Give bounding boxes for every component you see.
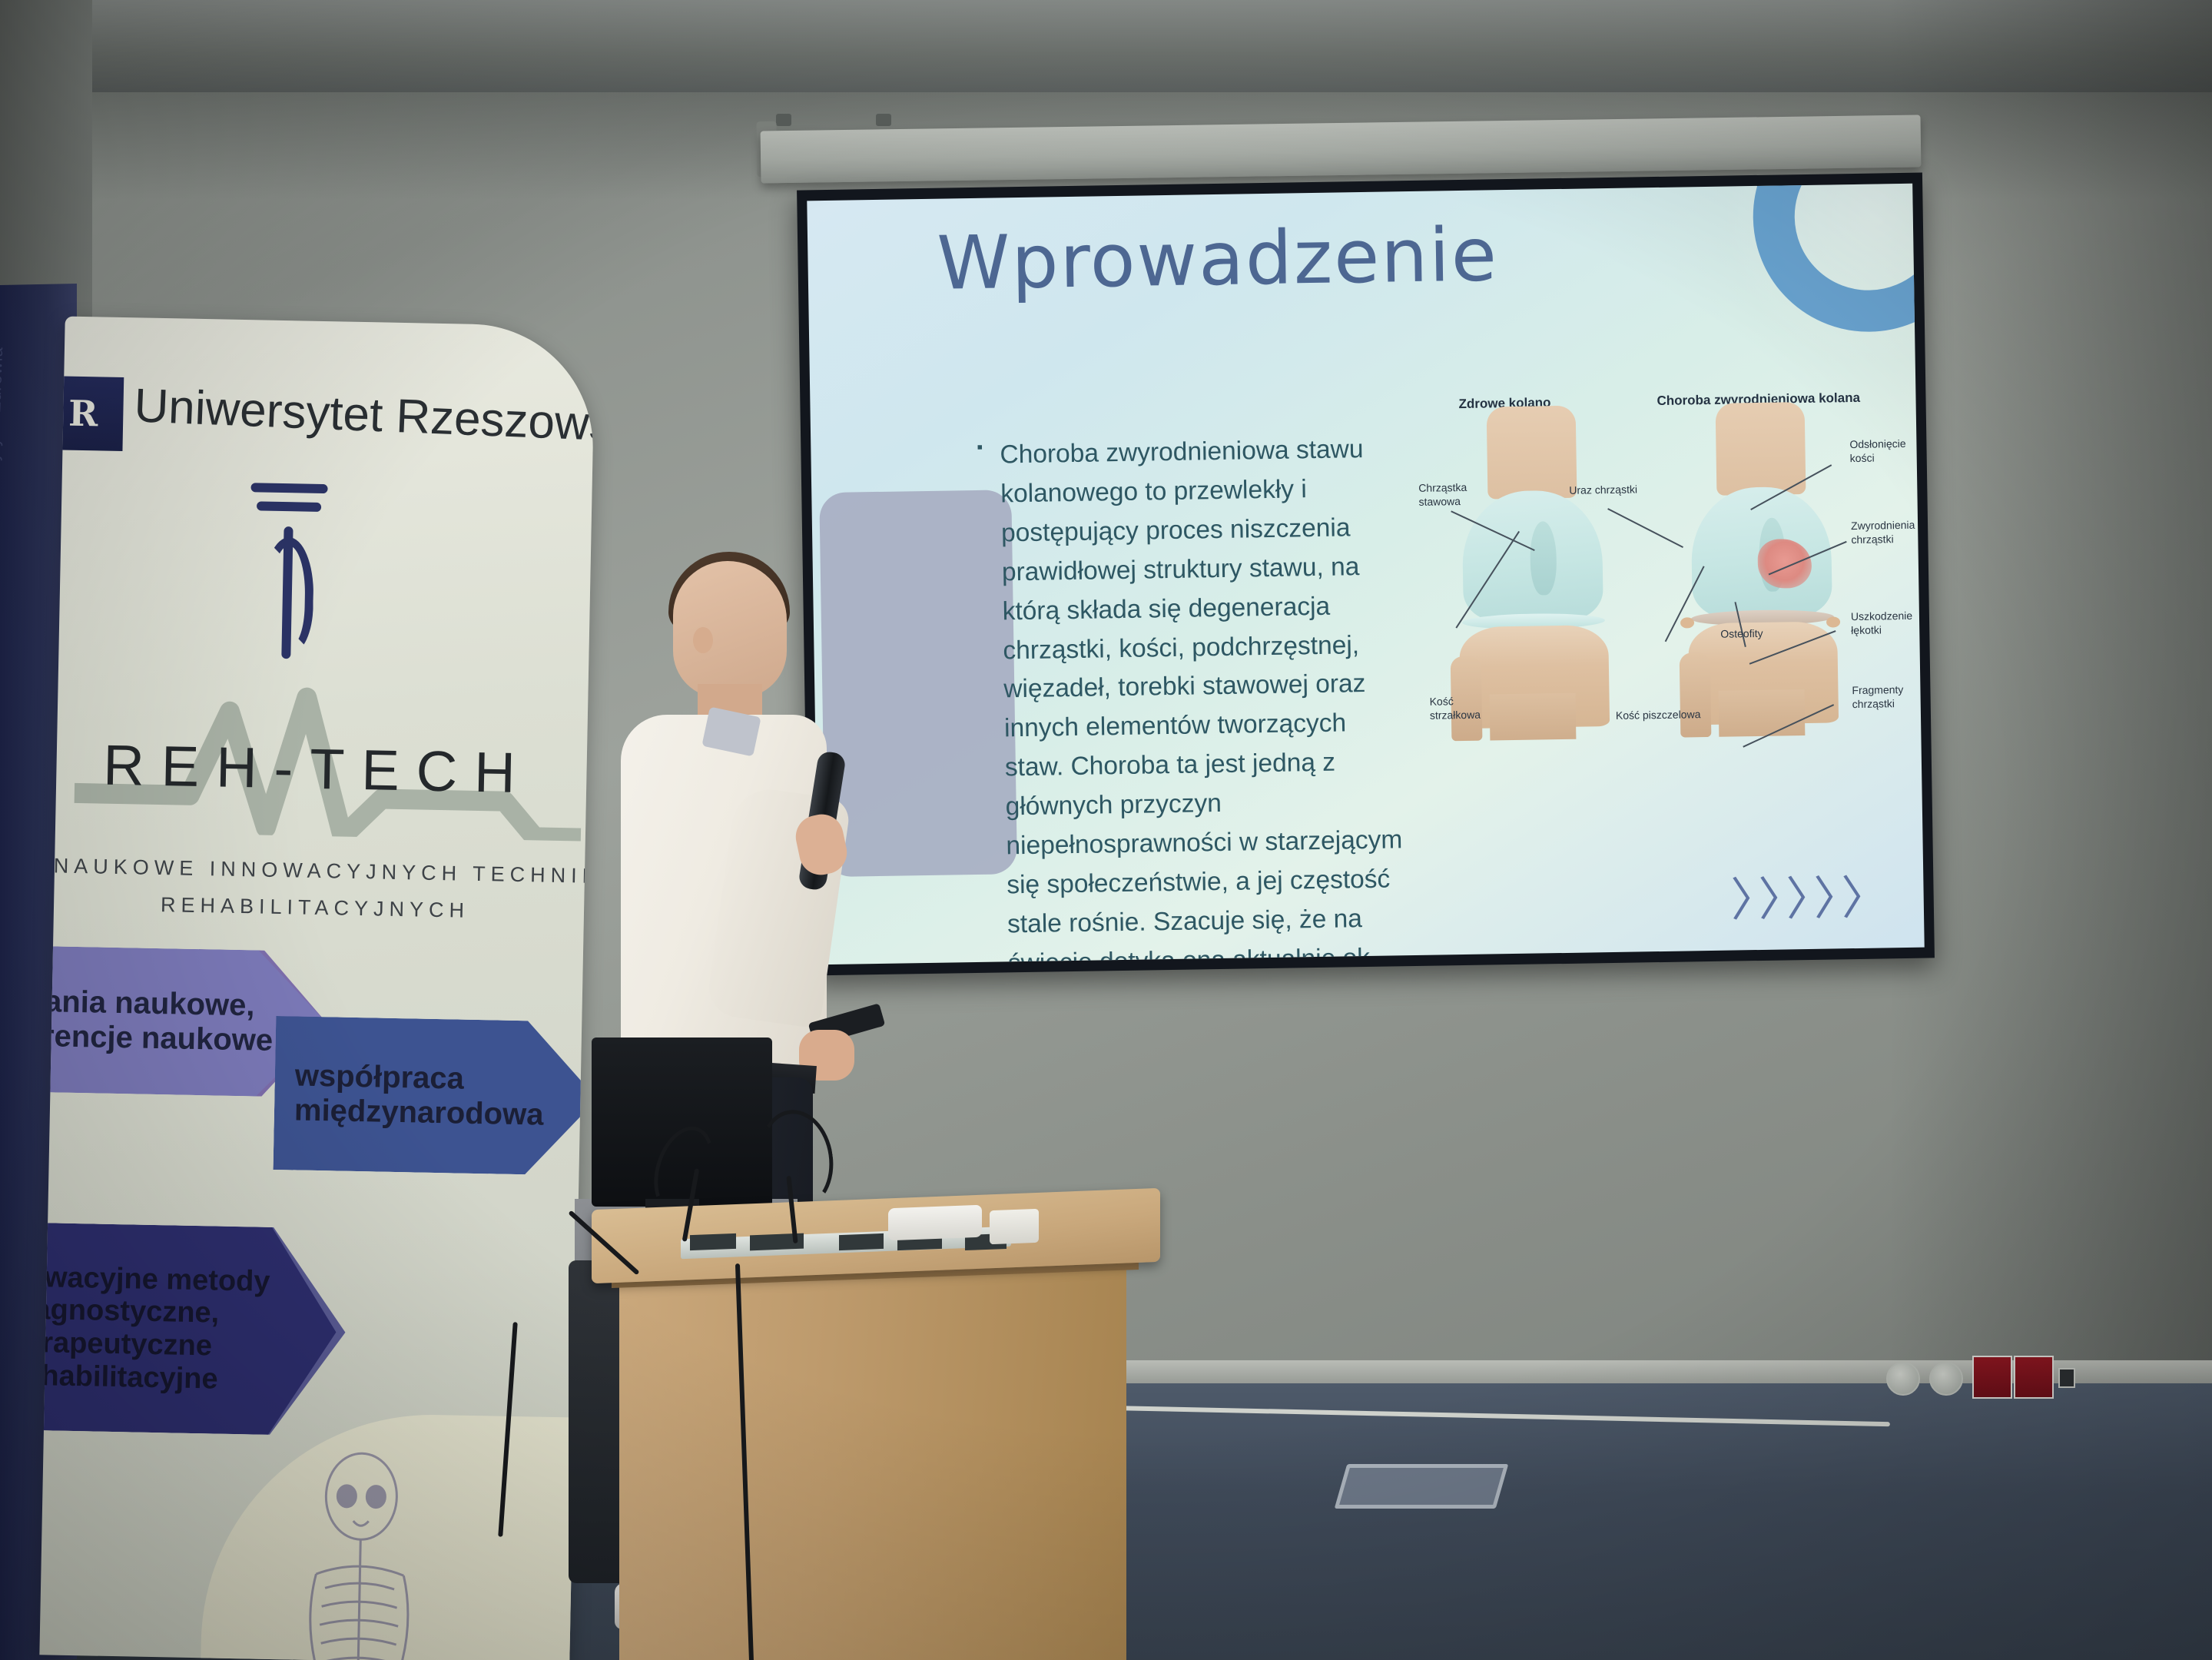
presenter-head [673, 561, 787, 698]
chevron-line: owacyjne metody [39, 1261, 270, 1298]
mount-screw [776, 114, 791, 126]
banner-chevron-cooperation: współpraca międzynarodowa [274, 1016, 595, 1176]
tray-slot [690, 1233, 736, 1250]
chevron-line: międzynarodowa [294, 1093, 544, 1131]
femur-condyles [1461, 490, 1603, 622]
university-logo-glyph: R [60, 393, 107, 433]
knee-anatomy-figure: Zdrowe kolano Choroba zwyrodnieniowa kol… [1417, 390, 1915, 843]
label-tibia: Kość piszczelowa [1616, 708, 1716, 723]
power-socket-icon [1886, 1362, 1920, 1396]
label-osteophytes: Osteofity [1720, 626, 1789, 641]
osteoarthritis-knee-illustration [1680, 458, 1845, 725]
emergency-socket-icon [1972, 1356, 2012, 1399]
brand-name: REH-TECH [64, 732, 572, 807]
chevron-line: współpraca [294, 1059, 464, 1096]
wireless-receiver-device[interactable] [888, 1205, 982, 1241]
ceiling [0, 0, 2212, 92]
tray-slot [839, 1233, 884, 1250]
skeleton-illustration-icon [268, 1450, 450, 1660]
podium-body [619, 1265, 1126, 1660]
wall-outlets[interactable] [1886, 1343, 2067, 1413]
chevron-line: erencje naukowe [39, 1019, 273, 1057]
label-bone-exposure: Odsłonięcie kości [1849, 437, 1912, 465]
presenter-ear [693, 627, 713, 653]
presentation-slide: Wprowadzenie Choroba zwyrodnieniowa staw… [807, 184, 1924, 964]
rollup-banner: R Uniwersytet Rzeszowski REH-TECH O NAUK… [39, 317, 595, 1660]
mount-screw [876, 114, 891, 126]
right-wall-shadow [1889, 0, 2212, 1383]
label-fibula: Kość strzałkowa [1429, 694, 1491, 722]
chevron-line: dania naukowe, [39, 984, 255, 1023]
femur-condyles [1690, 486, 1832, 619]
slide-title: Wprowadzenie [937, 211, 1499, 306]
chevron-line: erapeutyczne [39, 1326, 212, 1363]
bullet-item: Choroba zwyrodnieniowa stawu kolanowego … [973, 430, 1413, 964]
fibula-bone [1680, 652, 1712, 738]
data-port-icon [2058, 1368, 2075, 1388]
podium[interactable] [592, 1199, 1160, 1660]
label-cartilage-fragments: Fragmenty chrząstki [1852, 683, 1919, 711]
banner-subtitle-line2: REHABILITACYJNYCH [61, 891, 569, 925]
slide-body-text: Choroba zwyrodnieniowa stawu kolanowego … [973, 430, 1413, 964]
banner-chevron-methods: owacyjne metody iagnostyczne, erapeutycz… [39, 1222, 338, 1436]
university-name: Uniwersytet Rzeszowski [133, 378, 595, 453]
osteophyte-icon [1826, 616, 1840, 627]
tibia-shaft [1489, 693, 1576, 741]
label-articular-cartilage: Chrząstka stawowa [1418, 480, 1488, 508]
chevron-line: ehabilitacyjne [39, 1359, 218, 1395]
cartilage-lesion-icon [1757, 539, 1812, 589]
slide-next-chevrons-icon[interactable]: 〉〉〉〉〉 [1730, 860, 1892, 929]
projection-screen-frame: Wprowadzenie Choroba zwyrodnieniowa staw… [797, 173, 1935, 976]
chevron-line: iagnostyczne, [39, 1293, 219, 1330]
power-socket-icon [1929, 1362, 1963, 1396]
adapter-device[interactable] [990, 1209, 1039, 1244]
presentation-room-scene: Wprowadzenie Choroba zwyrodnieniowa staw… [0, 0, 2212, 1660]
banner-subtitle-line1: O NAUKOWE INNOWACYJNYCH TECHNIK [39, 854, 595, 889]
label-meniscus-damage: Uszkodzenie łękotki [1851, 609, 1918, 637]
label-cartilage-injury: Uraz chrząstki [1569, 483, 1661, 497]
emergency-socket-icon [2014, 1356, 2054, 1399]
tibia-shaft [1718, 689, 1805, 737]
label-cartilage-degeneration: Zwyrodnienia chrząstki [1851, 519, 1918, 546]
caduceus-icon [240, 483, 335, 661]
osteophyte-icon [1680, 617, 1694, 628]
femur-shaft [1487, 406, 1577, 500]
femur-shaft [1716, 402, 1806, 496]
university-logo-mark: R [55, 376, 124, 451]
leader-line [1607, 508, 1683, 548]
floor-vent [1335, 1464, 1509, 1509]
intercondylar-notch [1530, 521, 1557, 596]
